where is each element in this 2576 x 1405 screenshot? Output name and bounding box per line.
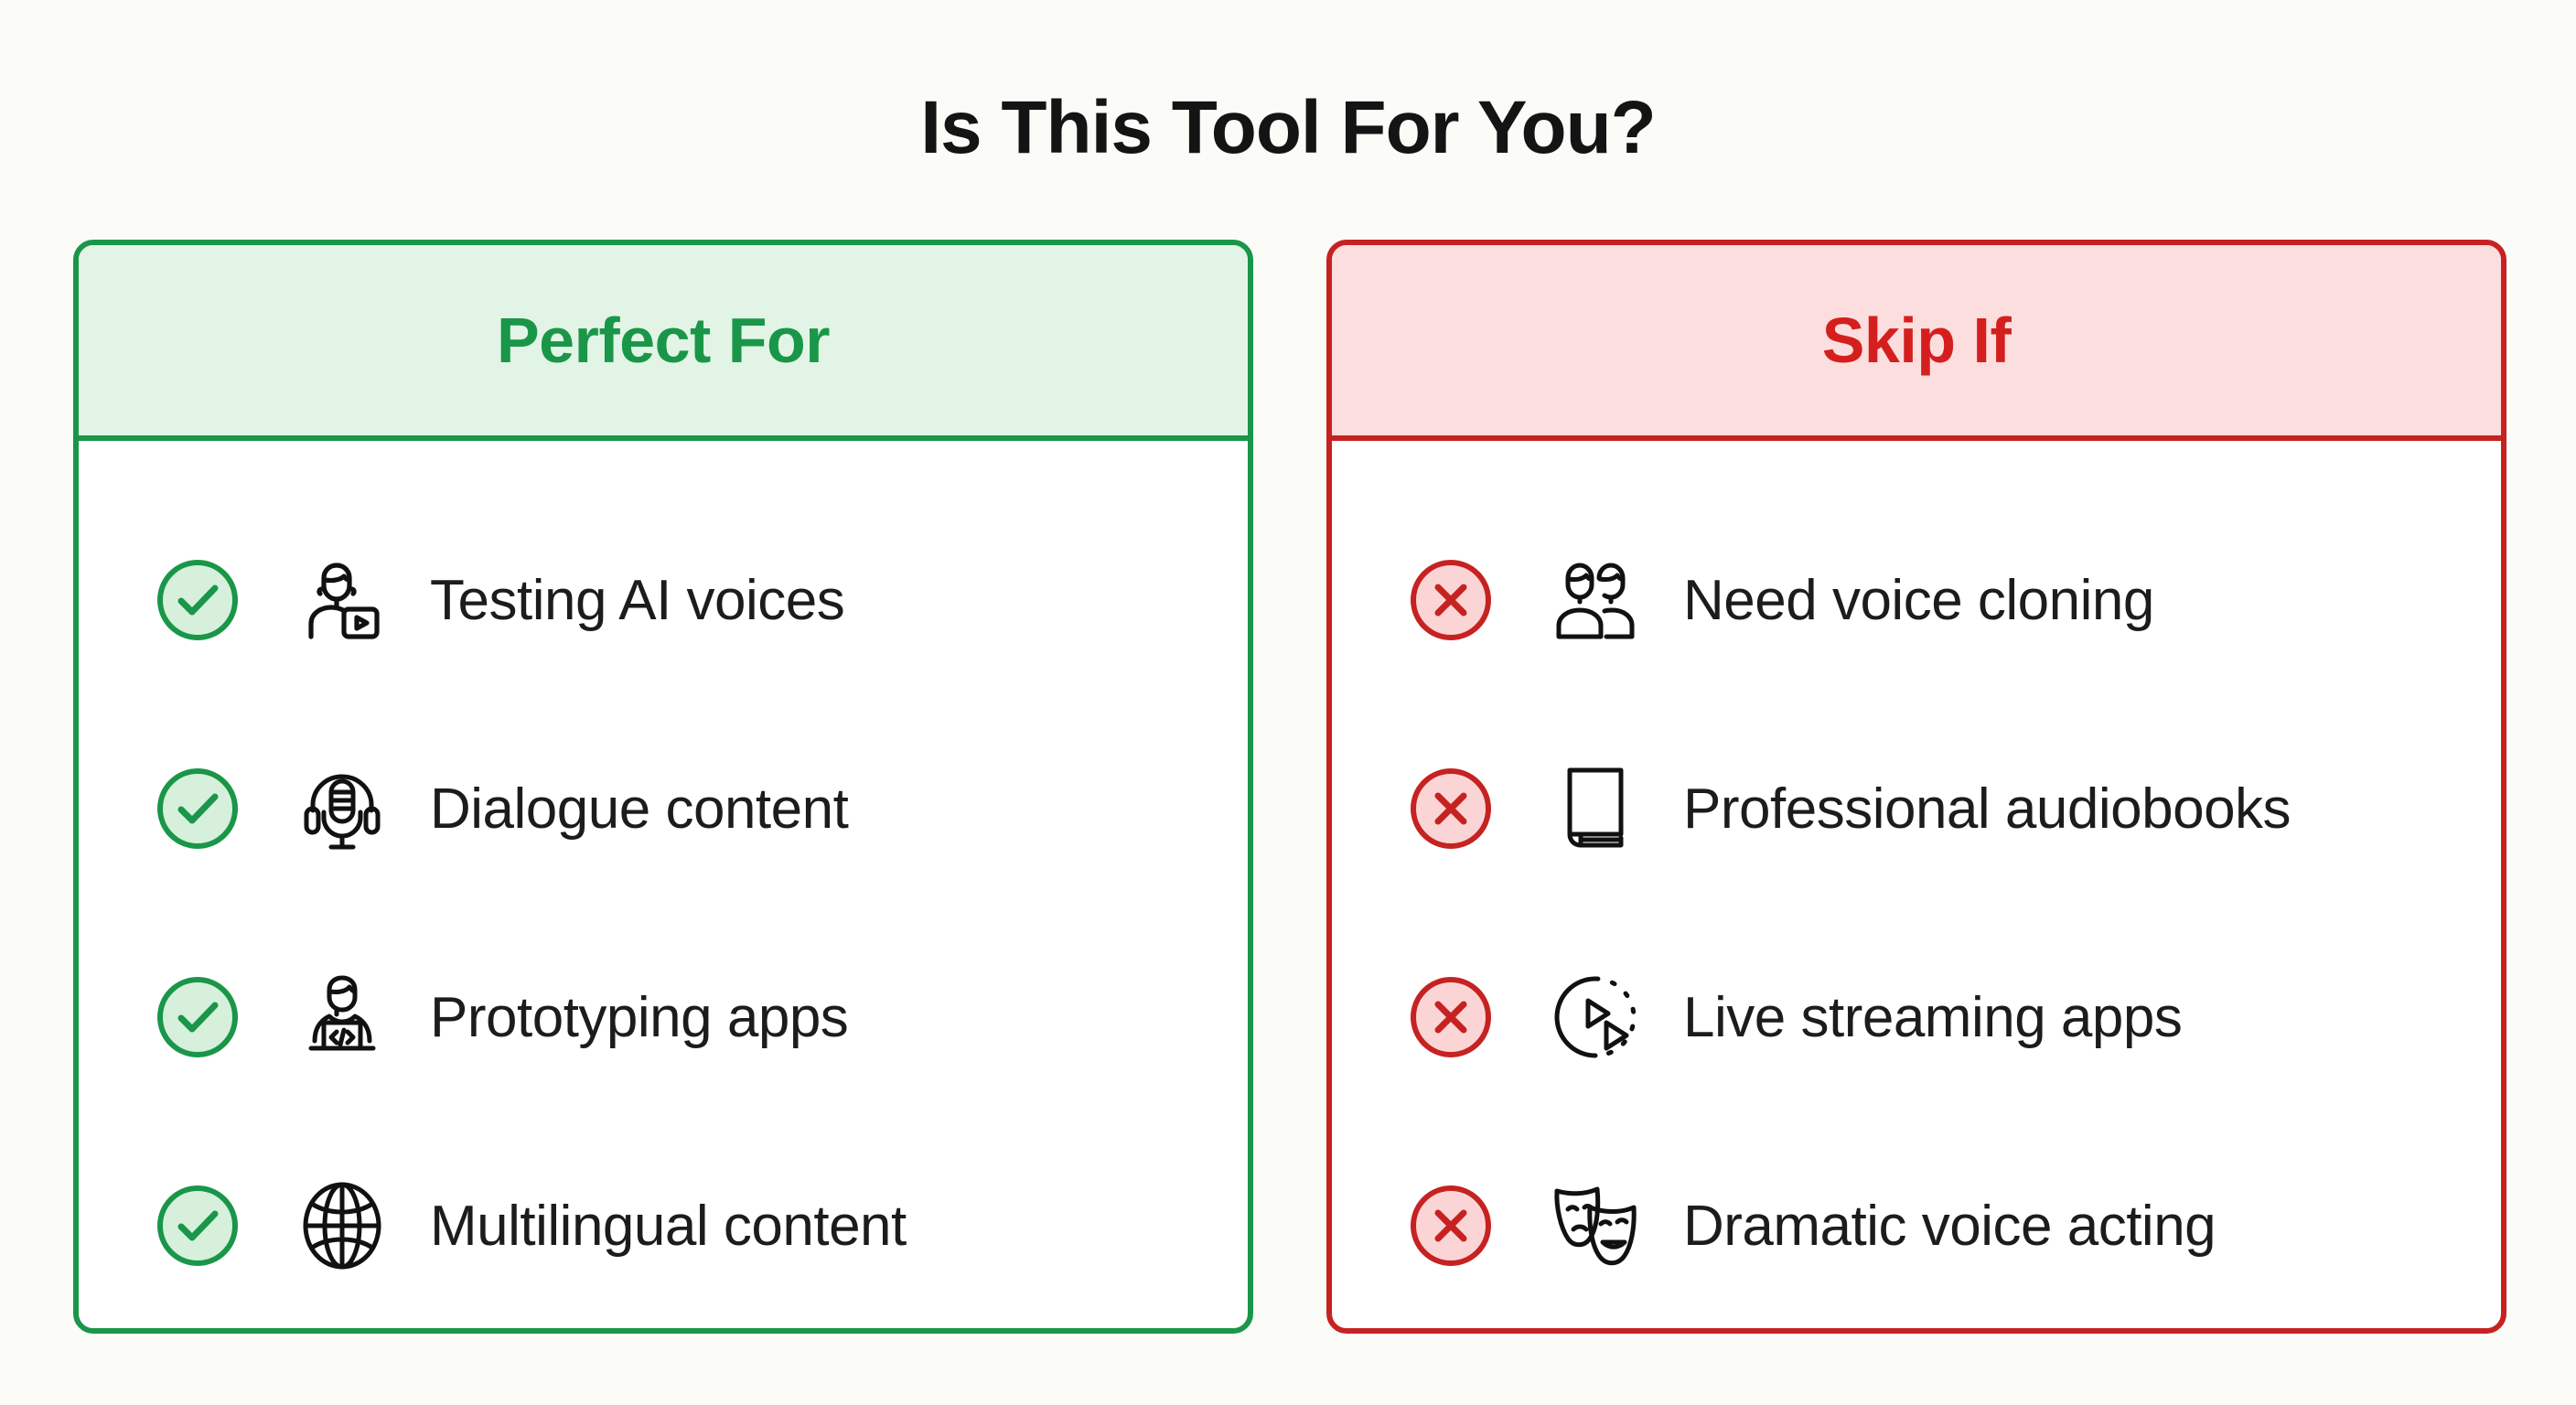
check-circle-icon [156, 975, 240, 1059]
list-item-label: Dramatic voice acting [1683, 1194, 2216, 1259]
list-item-label: Live streaming apps [1683, 985, 2182, 1050]
list-item-label: Need voice cloning [1683, 568, 2154, 633]
card-title-perfect-for: Perfect For [497, 304, 830, 377]
x-circle-icon [1409, 558, 1493, 642]
card-header-perfect-for: Perfect For [79, 245, 1248, 441]
list-item[interactable]: Prototyping apps [79, 913, 1248, 1121]
card-body-perfect-for: Testing AI voices [79, 441, 1248, 1330]
person-video-icon [296, 554, 388, 646]
card-skip-if: Skip If [1326, 240, 2506, 1334]
list-item[interactable]: Dramatic voice acting [1332, 1121, 2501, 1330]
card-header-skip-if: Skip If [1332, 245, 2501, 441]
theater-masks-icon [1550, 1180, 1641, 1271]
x-circle-icon [1409, 1184, 1493, 1268]
list-item-label: Professional audiobooks [1683, 777, 2291, 842]
card-perfect-for: Perfect For [73, 240, 1253, 1334]
card-title-skip-if: Skip If [1822, 304, 2012, 377]
live-stream-play-icon [1550, 971, 1641, 1063]
card-body-skip-if: Need voice cloning [1332, 441, 2501, 1330]
page-title: Is This Tool For You? [0, 85, 2576, 171]
check-circle-icon [156, 1184, 240, 1268]
developer-laptop-code-icon [296, 971, 388, 1063]
list-item-label: Prototyping apps [430, 985, 848, 1050]
check-circle-icon [156, 558, 240, 642]
x-circle-icon [1409, 975, 1493, 1059]
check-circle-icon [156, 767, 240, 851]
comparison-cards: Perfect For [73, 240, 2506, 1337]
list-item[interactable]: Live streaming apps [1332, 913, 2501, 1121]
list-item[interactable]: Testing AI voices [79, 496, 1248, 704]
list-item[interactable]: Multilingual content [79, 1121, 1248, 1330]
list-item[interactable]: Dialogue content [79, 704, 1248, 913]
list-item-label: Dialogue content [430, 777, 848, 842]
list-item-label: Multilingual content [430, 1194, 907, 1259]
list-item[interactable]: Professional audiobooks [1332, 704, 2501, 913]
book-icon [1550, 763, 1641, 854]
list-item-label: Testing AI voices [430, 568, 844, 633]
microphone-headphones-icon [296, 763, 388, 854]
two-people-icon [1550, 554, 1641, 646]
list-item[interactable]: Need voice cloning [1332, 496, 2501, 704]
x-circle-icon [1409, 767, 1493, 851]
globe-grid-icon [296, 1180, 388, 1271]
